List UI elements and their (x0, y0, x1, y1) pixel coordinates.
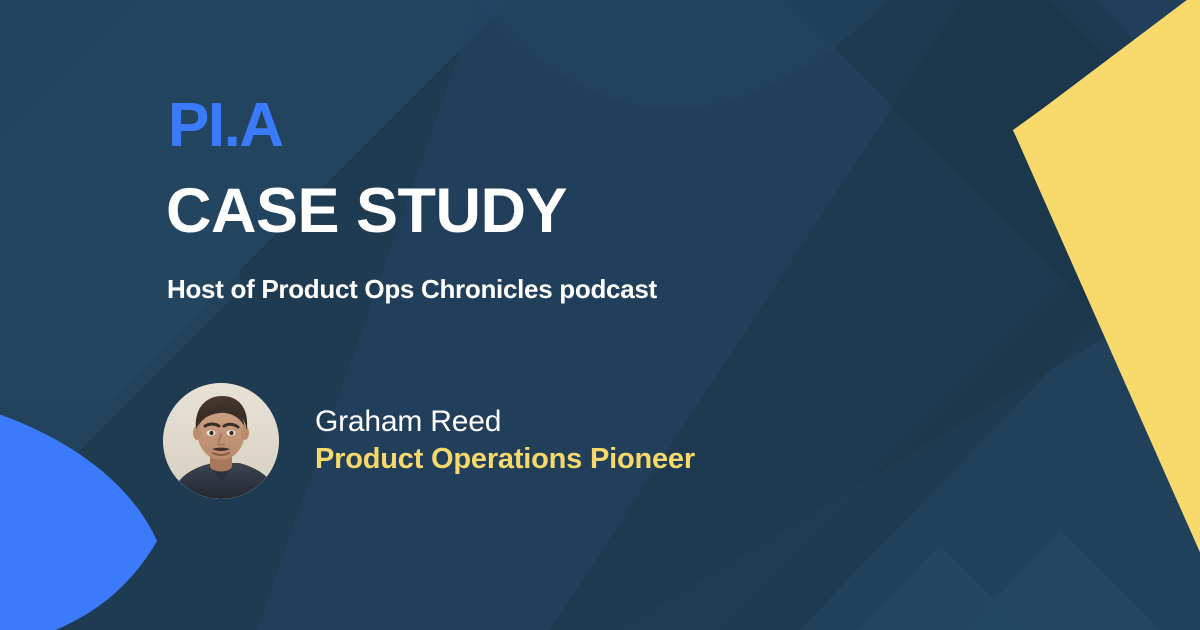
person-name: Graham Reed (315, 405, 695, 438)
avatar-portrait-icon (163, 383, 279, 499)
person-role: Product Operations Pioneer (315, 444, 695, 476)
page-title: CASE STUDY (166, 180, 567, 243)
case-study-card: PI.A CASE STUDY Host of Product Ops Chro… (0, 0, 1200, 630)
avatar (163, 383, 279, 499)
brand-logo[interactable]: PI.A (168, 95, 283, 157)
card-content: PI.A CASE STUDY Host of Product Ops Chro… (0, 0, 1200, 630)
person-block: Graham Reed Product Operations Pioneer (163, 383, 695, 499)
person-text: Graham Reed Product Operations Pioneer (315, 405, 695, 478)
subtitle: Host of Product Ops Chronicles podcast (167, 274, 657, 305)
